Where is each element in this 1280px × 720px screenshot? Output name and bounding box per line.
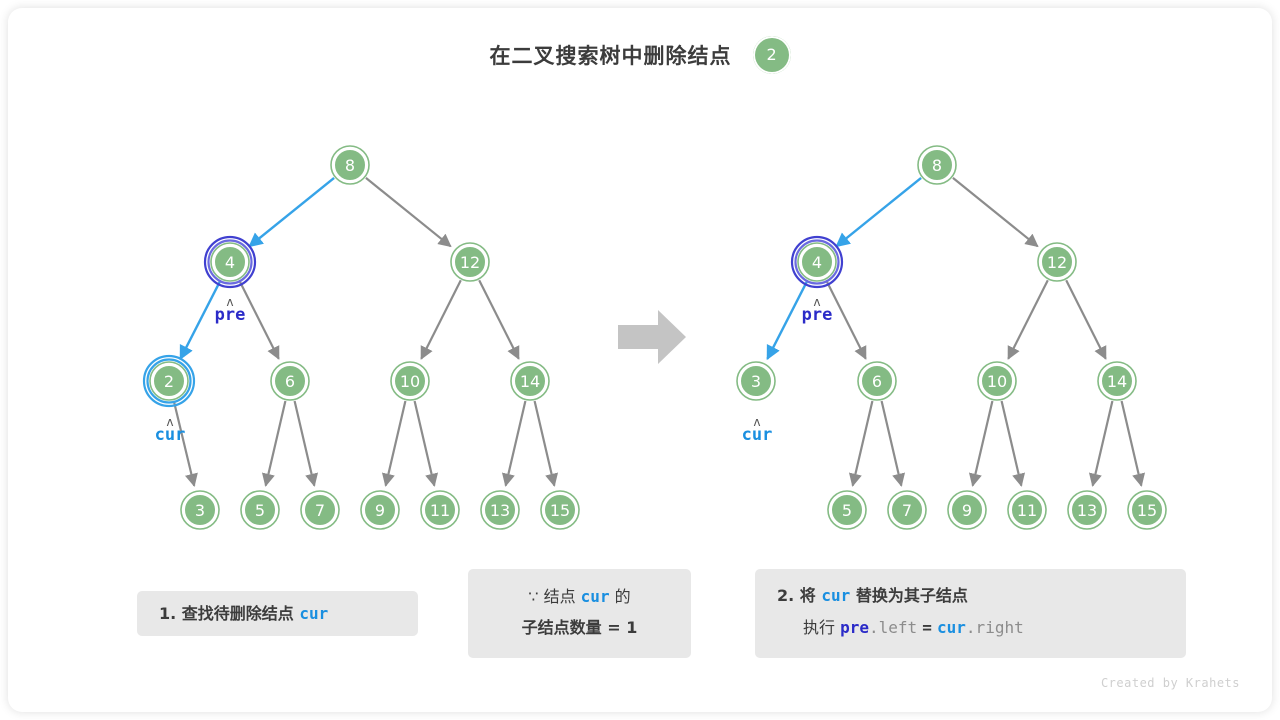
tree-node: 10 — [391, 362, 429, 400]
node-value: 14 — [1107, 372, 1127, 391]
tree-edge — [973, 401, 993, 486]
tree-edge — [1122, 401, 1142, 486]
caption-step-2-equals: = — [922, 618, 932, 637]
node-value: 15 — [1137, 501, 1157, 520]
node-value: 10 — [400, 372, 420, 391]
node-value: 6 — [872, 372, 882, 391]
tree-node: 4 — [792, 237, 842, 287]
tree-node: 11 — [1008, 491, 1046, 529]
node-value: 12 — [1047, 253, 1067, 272]
caption-step-2-text-a: 将 — [800, 586, 816, 605]
node-value: 5 — [842, 501, 852, 520]
tree-node: 8 — [331, 146, 369, 184]
tree-node: 6 — [858, 362, 896, 400]
pointer-label-cur: cur — [155, 425, 186, 445]
tree-edge — [366, 178, 451, 246]
tree-node: 15 — [1128, 491, 1166, 529]
tree-node: 8 — [918, 146, 956, 184]
tree-edge — [953, 178, 1038, 246]
caption-step-2-code: cur — [821, 586, 850, 605]
diagram-canvas: 在二叉搜索树中删除结点 2 84122610143579111315841236… — [8, 8, 1272, 712]
tree-pointers: ʌpreʌcurʌpreʌcur — [155, 295, 833, 445]
tree-node: 3 — [181, 491, 219, 529]
tree-node: 14 — [1098, 362, 1136, 400]
tree-node: 7 — [888, 491, 926, 529]
caption-reason-line-1: ∵ 结点 cur 的 — [468, 581, 691, 613]
node-value: 15 — [550, 501, 570, 520]
pointer-label-pre: pre — [802, 305, 833, 325]
tree-node: 5 — [241, 491, 279, 529]
tree-edge — [479, 280, 519, 358]
tree-edge — [506, 401, 526, 486]
tree-node: 10 — [978, 362, 1016, 400]
node-value: 7 — [902, 501, 912, 520]
caption-reason-prefix: ∵ 结点 — [528, 587, 575, 606]
caption-step-2-right-field: .right — [966, 618, 1024, 637]
node-value: 2 — [164, 372, 174, 391]
tree-edge — [415, 401, 435, 486]
tree-node: 11 — [421, 491, 459, 529]
node-value: 9 — [962, 501, 972, 520]
node-value: 4 — [225, 253, 235, 272]
caption-step-2: 2. 将 cur 替换为其子结点 执行 pre.left = cur.right — [755, 569, 1186, 658]
pointer-label-pre: pre — [215, 305, 246, 325]
node-value: 3 — [195, 501, 205, 520]
caption-step-2-pre: pre — [840, 618, 869, 637]
credit-text: Created by Krahets — [1101, 676, 1240, 690]
node-value: 7 — [315, 501, 325, 520]
tree-edge-highlighted — [249, 178, 334, 246]
right-arrow-icon — [616, 308, 688, 366]
node-value: 12 — [460, 253, 480, 272]
caption-reason-code: cur — [581, 587, 610, 606]
caption-step-2-cur: cur — [937, 618, 966, 637]
tree-edge — [266, 401, 286, 486]
tree-node: 6 — [271, 362, 309, 400]
node-value: 8 — [932, 156, 942, 175]
node-value: 14 — [520, 372, 540, 391]
caption-step-2-number: 2. — [777, 586, 794, 605]
node-value: 11 — [430, 501, 450, 520]
node-value: 6 — [285, 372, 295, 391]
tree-edge — [882, 401, 902, 486]
node-value: 3 — [751, 372, 761, 391]
tree-node: 7 — [301, 491, 339, 529]
tree-edge — [295, 401, 315, 486]
tree-node: 3 — [737, 362, 775, 400]
tree-edge — [421, 280, 461, 358]
tree-node: 4 — [205, 237, 255, 287]
caption-step-2-line-1: 2. 将 cur 替换为其子结点 — [777, 580, 1186, 612]
node-value: 13 — [490, 501, 510, 520]
tree-node: 9 — [361, 491, 399, 529]
caption-step-2-exec-label: 执行 — [803, 618, 835, 637]
tree-edge — [1093, 401, 1113, 486]
caption-step-1-code: cur — [299, 604, 328, 623]
node-value: 13 — [1077, 501, 1097, 520]
caption-step-2-left-field: .left — [869, 618, 917, 637]
tree-edge — [1002, 401, 1022, 486]
caption-step-2-text-b: 替换为其子结点 — [856, 586, 968, 605]
tree-node: 14 — [511, 362, 549, 400]
tree-node: 9 — [948, 491, 986, 529]
caption-step-1: 1. 查找待删除结点 cur — [137, 591, 418, 636]
node-value: 5 — [255, 501, 265, 520]
caption-step-1-number: 1. — [159, 604, 176, 623]
caption-reason-line-2: 子结点数量 = 1 — [468, 613, 691, 643]
caption-reason: ∵ 结点 cur 的 子结点数量 = 1 — [468, 569, 691, 658]
tree-node: 13 — [1068, 491, 1106, 529]
caption-reason-suffix: 的 — [615, 587, 631, 606]
node-value: 8 — [345, 156, 355, 175]
tree-node: 5 — [828, 491, 866, 529]
tree-node: 15 — [541, 491, 579, 529]
node-value: 4 — [812, 253, 822, 272]
pointer-label-cur: cur — [742, 425, 773, 445]
node-value: 9 — [375, 501, 385, 520]
node-value: 11 — [1017, 501, 1037, 520]
tree-node: 12 — [1038, 243, 1076, 281]
tree-edge-highlighted — [836, 178, 921, 246]
caption-step-1-text: 查找待删除结点 — [182, 604, 294, 623]
tree-edge — [853, 401, 873, 486]
tree-edge — [1066, 280, 1106, 358]
tree-node: 2 — [144, 356, 194, 406]
node-value: 10 — [987, 372, 1007, 391]
tree-edge — [535, 401, 555, 486]
tree-edge — [1008, 280, 1048, 358]
tree-edge — [386, 401, 406, 486]
caption-step-2-line-2: 执行 pre.left = cur.right — [777, 612, 1186, 643]
tree-node: 12 — [451, 243, 489, 281]
tree-node: 13 — [481, 491, 519, 529]
